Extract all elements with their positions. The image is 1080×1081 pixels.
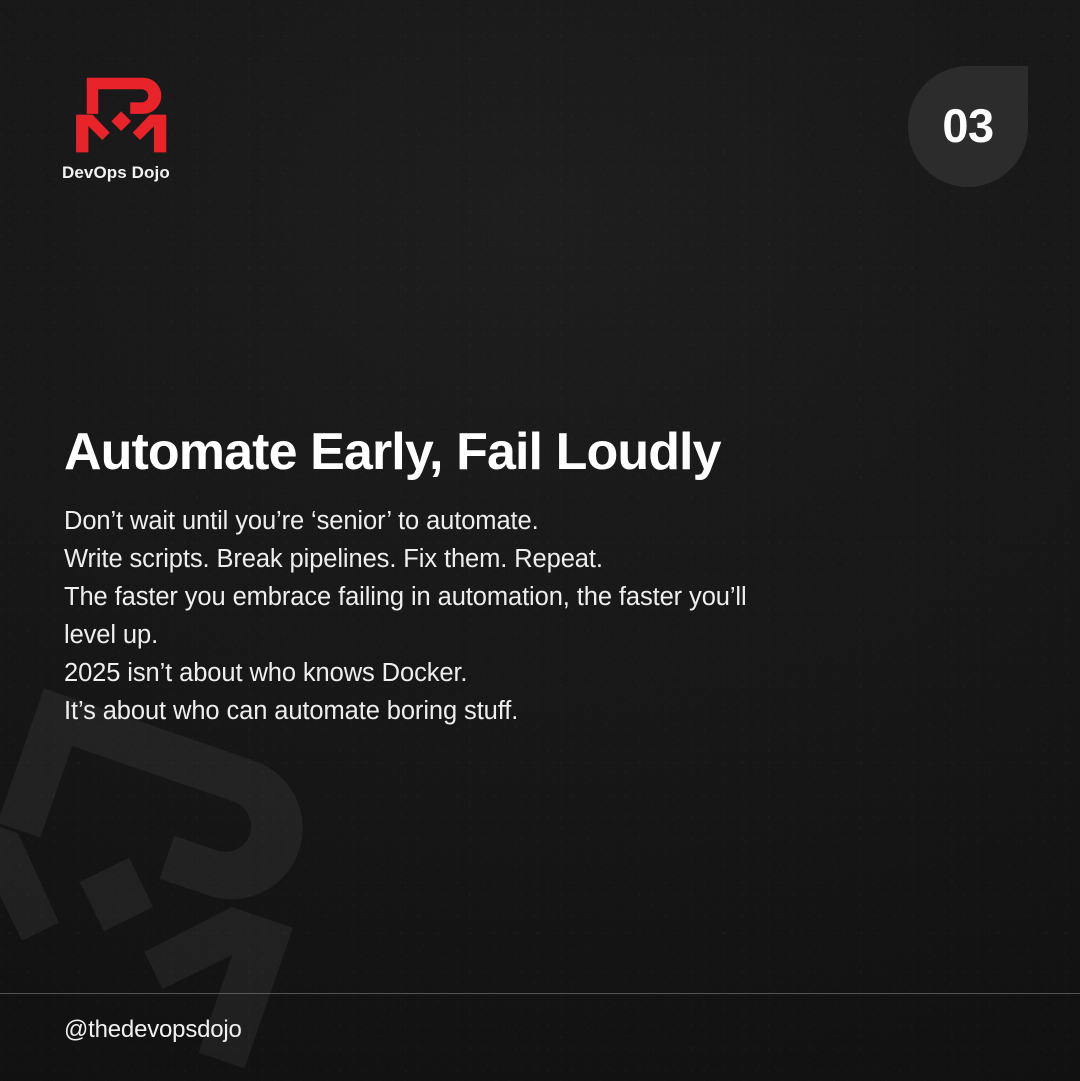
body-line: The faster you embrace failing in automa… <box>64 578 904 616</box>
footer-divider <box>0 993 1080 994</box>
slide-number-badge: 03 <box>908 66 1028 187</box>
brand-lockup: DevOps Dojo <box>62 72 252 183</box>
slide-number-label: 03 <box>942 102 993 149</box>
body-line: 2025 isn’t about who knows Docker. <box>64 654 904 692</box>
social-handle: @thedevopsdojo <box>64 1016 242 1044</box>
slide-canvas: DevOps Dojo 03 Automate Early, Fail Loud… <box>0 0 1080 1081</box>
slide-content: Automate Early, Fail Loudly Don’t wait u… <box>64 424 904 730</box>
page-title: Automate Early, Fail Loudly <box>64 424 904 480</box>
body-copy: Don’t wait until you’re ‘senior’ to auto… <box>64 502 904 730</box>
body-line: level up. <box>64 616 904 654</box>
devops-dojo-shuriken-r-logo-icon <box>68 72 176 154</box>
body-line: Don’t wait until you’re ‘senior’ to auto… <box>64 502 904 540</box>
brand-wordmark: DevOps Dojo <box>62 163 252 183</box>
body-line: It’s about who can automate boring stuff… <box>64 692 904 730</box>
body-line: Write scripts. Break pipelines. Fix them… <box>64 540 904 578</box>
